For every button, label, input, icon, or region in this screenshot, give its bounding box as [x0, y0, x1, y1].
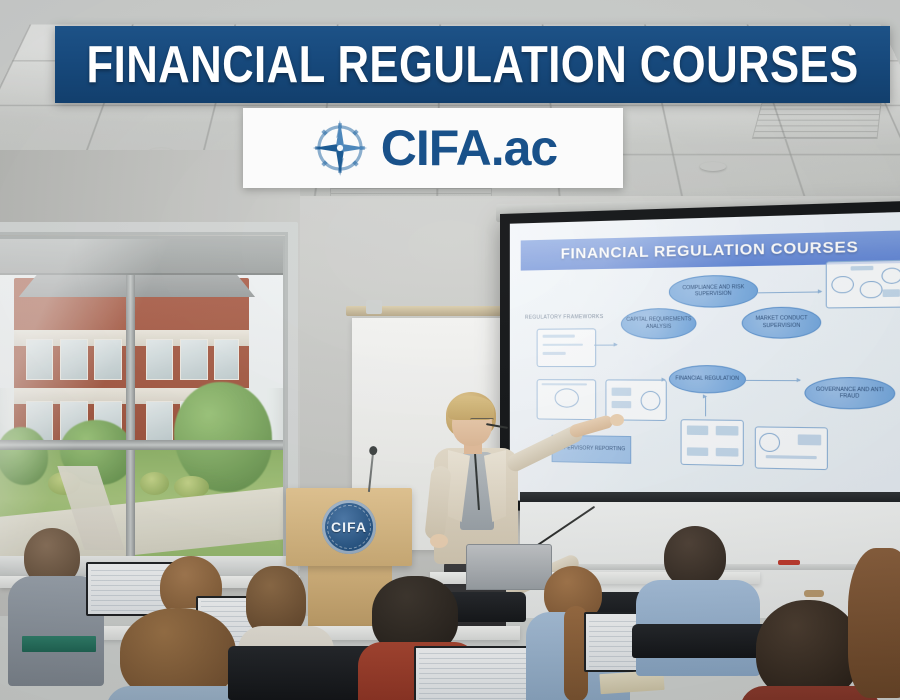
student-head: [664, 526, 726, 588]
slide-node-ellipse: FINANCIAL REGULATION: [669, 365, 746, 394]
slide-arrow: [594, 345, 617, 346]
slide-arrow: [758, 291, 821, 293]
slide-mini-bar: [687, 426, 709, 436]
slide-arrow: [705, 397, 706, 417]
slide-node-ellipse: MARKET CONDUCT SUPERVISION: [742, 306, 822, 339]
slide-note-left: REGULATORY FRAMEWORKS: [525, 314, 604, 321]
slide-detail-box: [681, 419, 744, 465]
slide-mini-bar: [611, 401, 631, 409]
slide-arrow: [746, 379, 800, 380]
slide-mini-bar: [716, 448, 738, 457]
presenter-hand-lower: [430, 534, 448, 548]
student-head: [848, 548, 900, 698]
student-head: [756, 600, 860, 700]
slide-mini-bar: [543, 352, 566, 355]
classroom-photo: FINANCIAL REGULATION COURSES REGULATORY …: [0, 0, 900, 700]
slide-mini-bar: [687, 447, 709, 456]
laptop: [466, 544, 552, 590]
slide-title: FINANCIAL REGULATION COURSES: [561, 238, 859, 263]
seal-text: CIFA: [331, 519, 367, 535]
presenter-hand: [610, 414, 624, 426]
title-banner: FINANCIAL REGULATION COURSES: [55, 26, 890, 103]
slide-node-ellipse: GOVERNANCE AND ANTI FRAUD: [805, 377, 896, 410]
slide-mini-bar: [542, 383, 587, 386]
chair: [228, 646, 378, 700]
slide-mini-bar: [798, 434, 821, 445]
slide-node-ellipse: CAPITAL REQUIREMENTS ANALYSIS: [621, 307, 697, 339]
marker-red: [778, 560, 800, 565]
logo-plate[interactable]: CIFA.ac: [243, 108, 623, 188]
podium-seal: CIFA: [322, 500, 376, 554]
slide-mini-bar: [850, 266, 873, 271]
slide-mini-node: [881, 267, 900, 284]
slide-mini-bar: [543, 343, 583, 346]
flipchart-clip: [366, 300, 382, 314]
slide-detail-box: [826, 260, 900, 308]
slide-arrow: [637, 379, 665, 380]
banner-title: FINANCIAL REGULATION COURSES: [86, 39, 858, 91]
slide-mini-bar: [716, 426, 738, 436]
notebook: [22, 636, 96, 652]
logo-wordmark: CIFA.ac: [381, 123, 557, 173]
slide-mini-node: [641, 390, 661, 410]
screenshot-root: FINANCIAL REGULATION COURSES REGULATORY …: [0, 0, 900, 700]
window-frame: [0, 222, 298, 574]
slide-mini-bar: [883, 289, 900, 297]
slide-mini-bar: [765, 455, 817, 459]
slide-mini-node: [860, 280, 883, 299]
slide-detail-box: [754, 426, 828, 470]
presenter-hair-front: [448, 396, 494, 420]
slide-mini-node: [832, 275, 854, 293]
slide-detail-box: [536, 328, 596, 367]
slide-node-ellipse: COMPLIANCE AND RISK SUPERVISION: [669, 275, 759, 308]
compass-gear-icon: [309, 117, 371, 179]
slide-mini-bar: [611, 388, 631, 396]
slide-mini-node: [760, 433, 781, 452]
smoke-detector-right: [700, 162, 726, 171]
slide-mini-bar: [543, 334, 575, 337]
laptop: [414, 646, 536, 700]
laptop-content: [419, 651, 531, 699]
